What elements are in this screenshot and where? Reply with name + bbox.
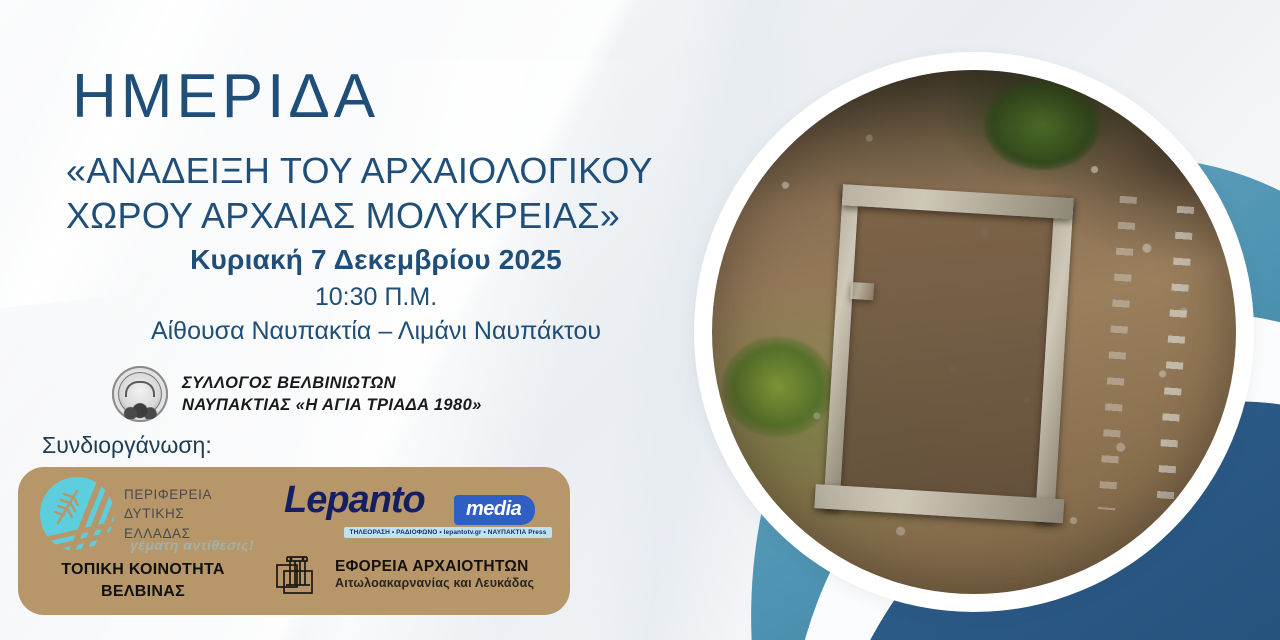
photo-vignette bbox=[712, 70, 1236, 594]
event-poster: ΗΜΕΡΙΔΑ «ΑΝΑΔΕΙΞΗ ΤΟΥ ΑΡΧΑΙΟΛΟΓΙΚΟΥ ΧΩΡΟ… bbox=[0, 0, 1280, 640]
region-slogan: γέματη αντίθεσις! bbox=[130, 537, 254, 553]
event-venue: Αίθουσα Ναυπακτία – Λιμάνι Ναυπάκτου bbox=[66, 317, 686, 346]
lepanto-wordmark: Lepanto bbox=[284, 479, 425, 522]
organiser-name: ΣΥΛΛΟΓΟΣ ΒΕΛΒΙΝΙΩΤΩΝ ΝΑΥΠΑΚΤΙΑΣ «Η ΑΓΙΑ … bbox=[182, 372, 482, 417]
lepanto-media-badge: media bbox=[454, 495, 535, 525]
lepanto-channels-strip: ΤΗΛΕΟΡΑΣΗ • ΡΑΔΙΟΦΩΝΟ • lepantotv.gr • Ν… bbox=[344, 527, 552, 538]
seal-figures-shape bbox=[123, 397, 157, 419]
association-seal-icon bbox=[112, 366, 168, 422]
column-book-icon bbox=[274, 551, 324, 597]
aerial-photo-image bbox=[712, 70, 1236, 594]
lepanto-media-logo: Lepanto media ΤΗΛΕΟΡΑΣΗ • ΡΑΔΙΟΦΩΝΟ • le… bbox=[276, 477, 554, 543]
region-emblem-icon bbox=[40, 477, 114, 551]
coorganisers-label: Συνδιοργάνωση: bbox=[42, 432, 212, 459]
region-name: ΠΕΡΙΦΕΡΕΙΑ ΔΥΤΙΚΗΣ ΕΛΛΑΔΑΣ bbox=[124, 485, 212, 544]
organiser-block: ΣΥΛΛΟΓΟΣ ΒΕΛΒΙΝΙΩΤΩΝ ΝΑΥΠΑΚΤΙΑΣ «Η ΑΓΙΑ … bbox=[112, 366, 482, 422]
archaeological-site-photo bbox=[703, 61, 1245, 603]
ephorate-title: ΕΦΟΡΕΙΑ ΑΡΧΑΙΟΤΗΤΩΝ bbox=[335, 557, 534, 576]
event-date: Κυριακή 7 Δεκεμβρίου 2025 bbox=[66, 244, 686, 276]
seal-arch-shape bbox=[125, 381, 155, 397]
ephorate-subtitle: Αιτωλοακαρνανίας και Λευκάδας bbox=[335, 576, 534, 592]
ephorate-text: ΕΦΟΡΕΙΑ ΑΡΧΑΙΟΤΗΤΩΝ Αιτωλοακαρνανίας και… bbox=[335, 557, 534, 592]
coorganisers-panel: ΠΕΡΙΦΕΡΕΙΑ ΔΥΤΙΚΗΣ ΕΛΛΑΔΑΣ γέματη αντίθε… bbox=[18, 467, 570, 615]
ephorate-logo: ΕΦΟΡΕΙΑ ΑΡΧΑΙΟΤΗΤΩΝ Αιτωλοακαρνανίας και… bbox=[274, 551, 534, 597]
page-title: ΗΜΕΡΙΔΑ bbox=[72, 66, 379, 128]
event-time: 10:30 Π.Μ. bbox=[66, 283, 686, 312]
event-subtitle: «ΑΝΑΔΕΙΞΗ ΤΟΥ ΑΡΧΑΙΟΛΟΓΙΚΟΥ ΧΩΡΟΥ ΑΡΧΑΙΑ… bbox=[66, 148, 686, 239]
community-name: ΤΟΠΙΚΗ ΚΟΙΝΟΤΗΤΑ ΒΕΛΒΙΝΑΣ bbox=[28, 559, 258, 602]
